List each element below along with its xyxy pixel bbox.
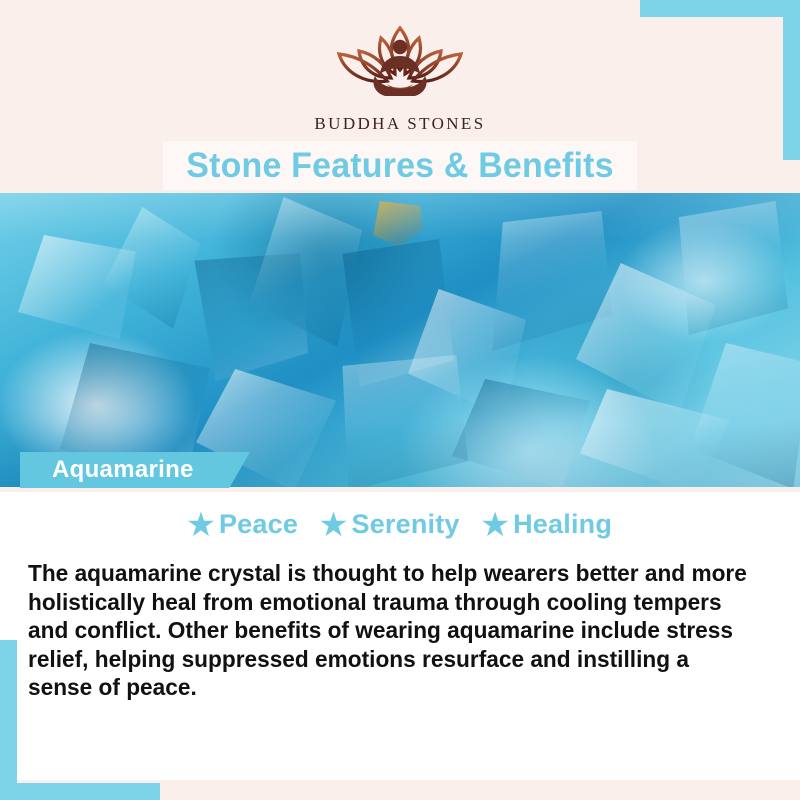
stone-name-label: Aquamarine bbox=[52, 452, 194, 488]
star-icon bbox=[482, 512, 508, 538]
keyword-peace: Peace bbox=[188, 509, 298, 540]
header-section: BUDDHA STONES Stone Features & Benefits bbox=[0, 0, 800, 193]
keyword-healing: Healing bbox=[482, 509, 612, 540]
star-icon bbox=[321, 512, 347, 538]
lotus-meditation-figure-icon bbox=[325, 18, 475, 110]
corner-frame-left bbox=[0, 640, 17, 800]
keyword-label: Peace bbox=[219, 509, 298, 540]
poster-canvas: BUDDHA STONES Stone Features & Benefits … bbox=[0, 0, 800, 800]
photo-vignette bbox=[0, 193, 800, 487]
stone-photo bbox=[0, 193, 800, 487]
description-paragraph: The aquamarine crystal is thought to hel… bbox=[28, 559, 759, 702]
keyword-label: Serenity bbox=[352, 509, 460, 540]
corner-frame-bottom-left bbox=[0, 783, 160, 800]
page-title: Stone Features & Benefits bbox=[170, 141, 630, 190]
keyword-serenity: Serenity bbox=[321, 509, 460, 540]
keyword-label: Healing bbox=[513, 509, 612, 540]
brand-logo: BUDDHA STONES bbox=[0, 18, 800, 134]
corner-frame-top-right bbox=[640, 0, 800, 17]
brand-name: BUDDHA STONES bbox=[0, 114, 800, 134]
star-icon bbox=[188, 512, 214, 538]
keyword-row: Peace Serenity Healing bbox=[0, 509, 800, 540]
corner-frame-right bbox=[783, 0, 800, 160]
